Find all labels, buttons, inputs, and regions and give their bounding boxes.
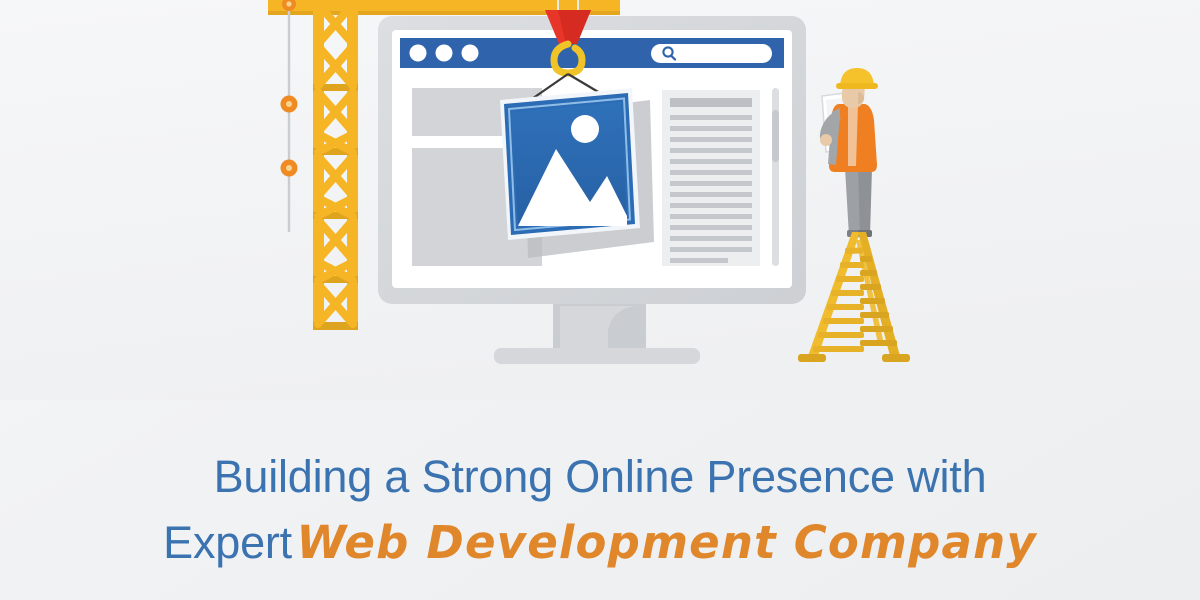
browser-dot[interactable] (410, 45, 427, 62)
worker-legs (845, 168, 872, 237)
illustration-svg (0, 0, 1200, 400)
browser-toolbar (400, 38, 784, 68)
monitor-base (494, 348, 700, 364)
headline-line-1: Building a Strong Online Presence with (0, 452, 1200, 502)
headline: Building a Strong Online Presence with E… (0, 452, 1200, 569)
worker-hand (820, 134, 832, 146)
browser-dot[interactable] (436, 45, 453, 62)
hanging-image-placeholder (500, 88, 654, 258)
browser-dot[interactable] (462, 45, 479, 62)
web-development-banner: Building a Strong Online Presence with E… (0, 0, 1200, 600)
headline-line-2-accent: Web Development Company (296, 516, 1036, 569)
headline-line-2-plain: Expert (163, 517, 292, 568)
illustration (0, 0, 1200, 400)
pulley-icon (281, 96, 298, 113)
headline-line-2: Expert Web Development Company (0, 518, 1200, 568)
pulley-icon (281, 160, 298, 177)
page-scrollbar[interactable] (772, 88, 779, 266)
article-text-column (662, 90, 760, 266)
